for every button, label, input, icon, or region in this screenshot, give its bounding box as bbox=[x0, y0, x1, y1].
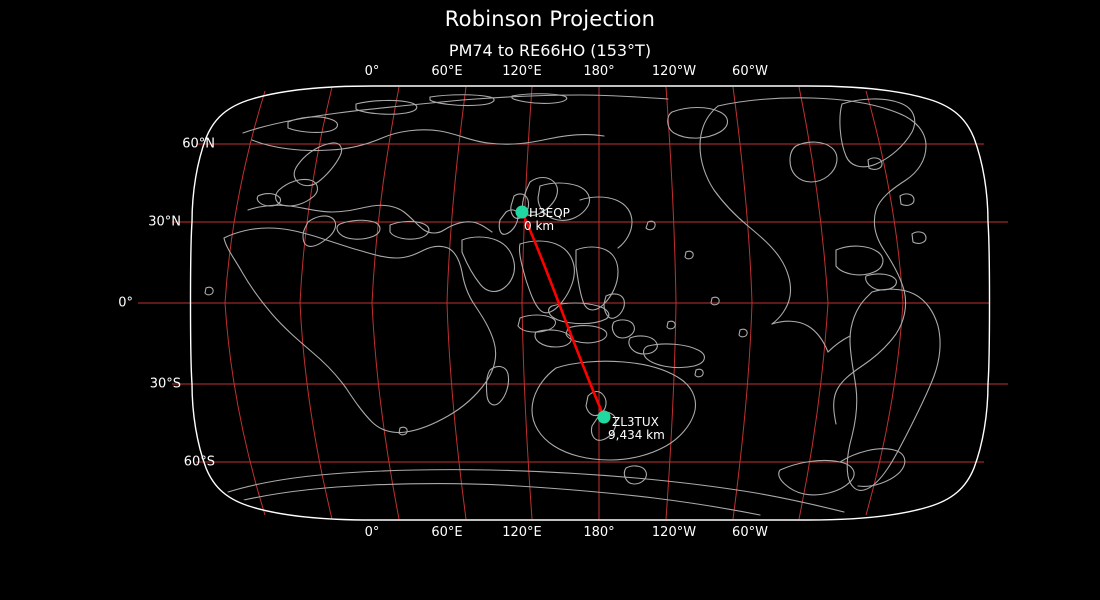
map-figure: Robinson Projection PM74 to RE66HO (153°… bbox=[0, 0, 1100, 600]
lon-tick-bottom-60w: 60°W bbox=[732, 525, 768, 540]
lon-tick-bottom-120w: 120°W bbox=[652, 525, 696, 540]
map-svg bbox=[0, 0, 1100, 600]
marker-destination-distance: 9,434 km bbox=[608, 428, 665, 442]
lon-tick-bottom-120e: 120°E bbox=[502, 525, 542, 540]
lon-tick-top-60e: 60°E bbox=[431, 64, 462, 79]
marker-origin-distance: 0 km bbox=[524, 219, 554, 233]
lon-tick-top-60w: 60°W bbox=[732, 64, 768, 79]
marker-destination[interactable] bbox=[598, 411, 611, 424]
lon-tick-top-120w: 120°W bbox=[652, 64, 696, 79]
lon-tick-bottom-180: 180° bbox=[583, 525, 614, 540]
lat-tick-60s: 60°S bbox=[184, 455, 215, 470]
lon-tick-bottom-60e: 60°E bbox=[431, 525, 462, 540]
robinson-map[interactable]: 0° 60°E 120°E 180° 120°W 60°W 0° 60°E 12… bbox=[0, 0, 1100, 600]
lat-tick-30n: 30°N bbox=[148, 215, 181, 230]
lat-tick-60n: 60°N bbox=[182, 137, 215, 152]
lat-tick-0: 0° bbox=[118, 296, 133, 311]
lon-tick-top-180: 180° bbox=[583, 64, 614, 79]
marker-origin[interactable] bbox=[516, 206, 529, 219]
marker-destination-callsign: ZL3TUX bbox=[612, 415, 659, 429]
lon-tick-top-120e: 120°E bbox=[502, 64, 542, 79]
lon-tick-bottom-0: 0° bbox=[365, 525, 380, 540]
lon-tick-top-0: 0° bbox=[365, 64, 380, 79]
marker-origin-callsign: H3EQP bbox=[529, 206, 570, 220]
lat-tick-30s: 30°S bbox=[150, 377, 181, 392]
